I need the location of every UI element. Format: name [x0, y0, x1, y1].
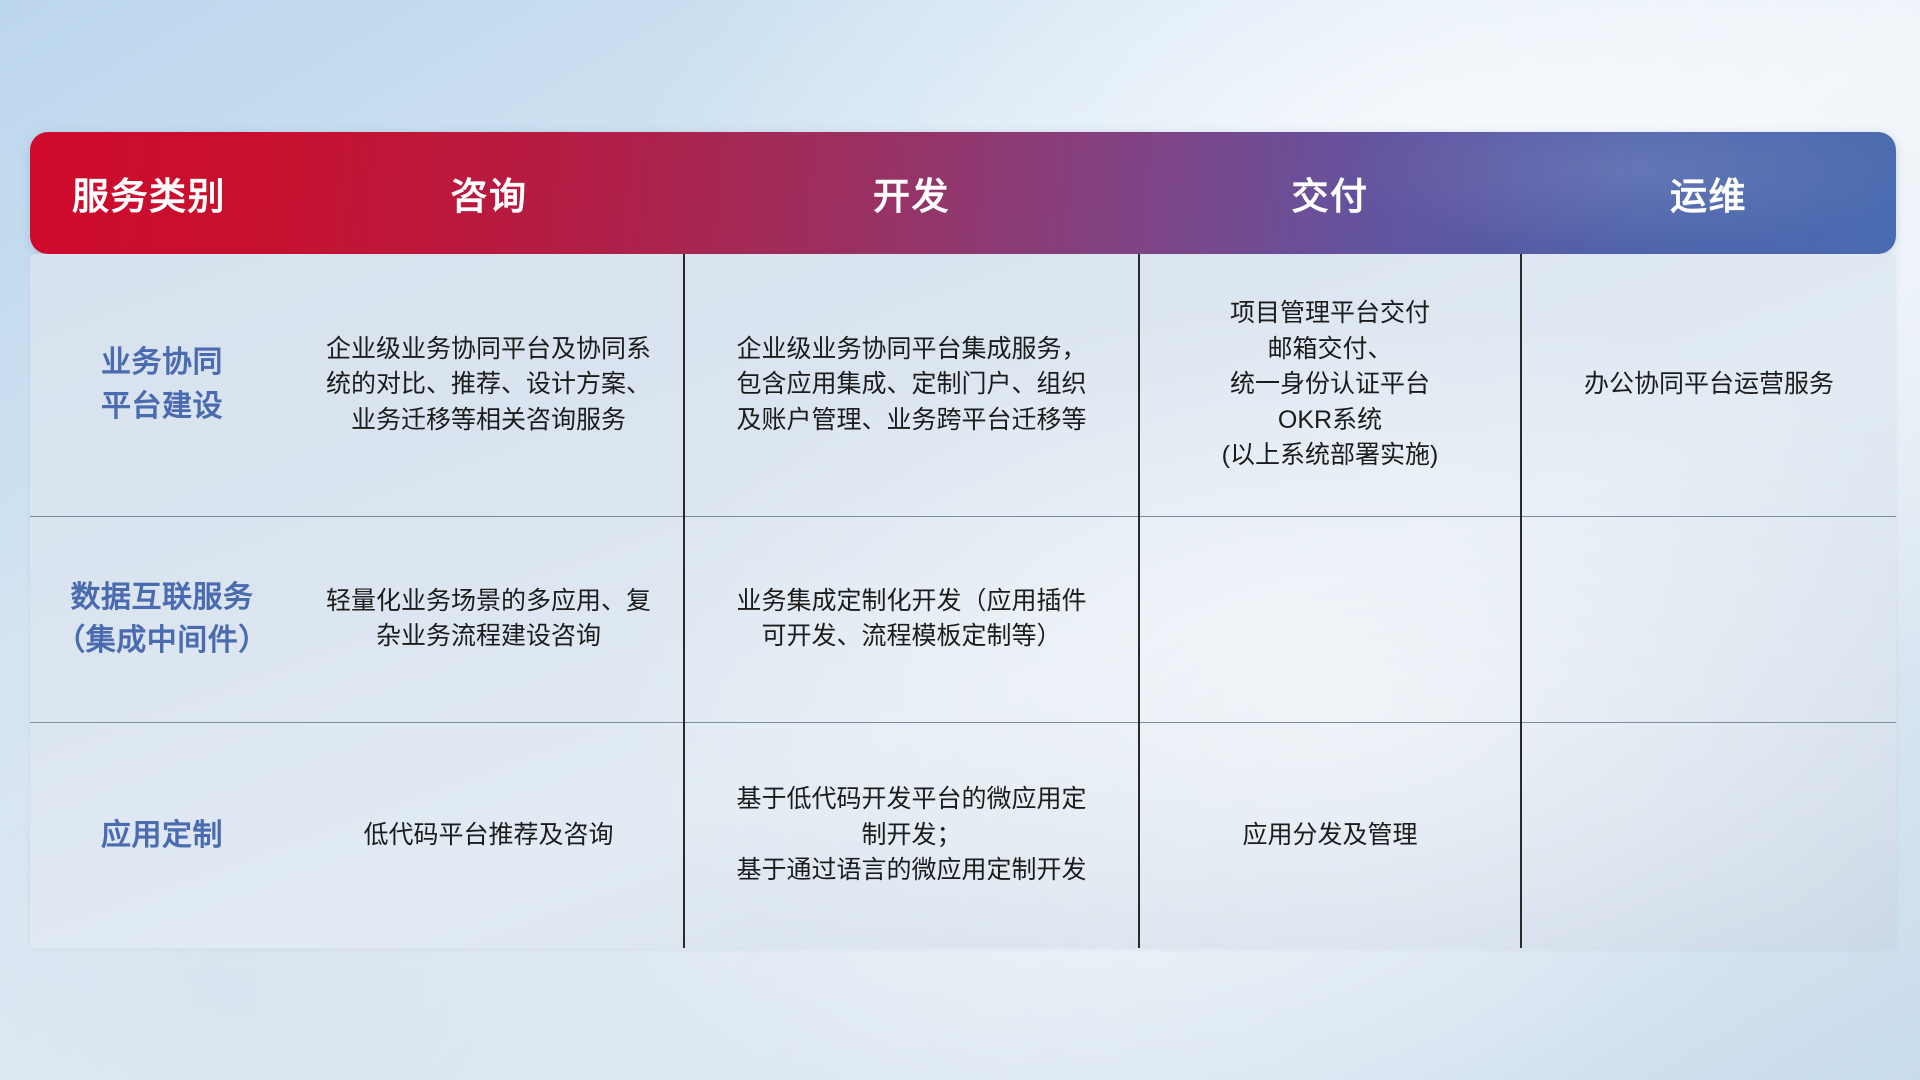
table-row: 应用定制 低代码平台推荐及咨询 基于低代码开发平台的微应用定 制开发； 基于通过… [30, 722, 1896, 948]
row-category-business-collaboration: 业务协同 平台建设 [30, 254, 294, 516]
column-header-consulting[interactable]: 咨询 [294, 132, 684, 254]
cell-operations-r1: 办公协同平台运营服务 [1521, 254, 1896, 516]
service-matrix-container: 服务类别 咨询 开发 交付 运维 [30, 132, 1896, 948]
table-row: 数据互联服务 （集成中间件） 轻量化业务场景的多应用、复 杂业务流程建设咨询 业… [30, 516, 1896, 722]
page-root: 服务类别 咨询 开发 交付 运维 [0, 0, 1920, 1080]
row-category-label: 业务协同 平台建设 [46, 341, 278, 428]
cell-development-r3: 基于低代码开发平台的微应用定 制开发； 基于通过语言的微应用定制开发 [684, 722, 1139, 948]
cell-text: 办公协同平台运营服务 [1538, 367, 1880, 403]
cell-consulting-r2: 轻量化业务场景的多应用、复 杂业务流程建设咨询 [294, 516, 684, 722]
cell-delivery-r2 [1139, 516, 1521, 722]
column-header-category-label: 服务类别 [30, 166, 294, 220]
cell-operations-r2 [1521, 516, 1896, 722]
header-row: 服务类别 咨询 开发 交付 运维 [30, 132, 1896, 254]
cell-text: 应用分发及管理 [1156, 818, 1504, 854]
cell-text: 业务集成定制化开发（应用插件 可开发、流程模板定制等） [701, 584, 1122, 655]
service-matrix-table: 服务类别 咨询 开发 交付 运维 [30, 132, 1896, 948]
cell-text: 项目管理平台交付 邮箱交付、 统一身份认证平台 OKR系统 (以上系统部署实施) [1156, 296, 1504, 474]
row-category-label: 应用定制 [46, 814, 278, 858]
cell-delivery-r1: 项目管理平台交付 邮箱交付、 统一身份认证平台 OKR系统 (以上系统部署实施) [1139, 254, 1521, 516]
table-body: 业务协同 平台建设 企业级业务协同平台及协同系 统的对比、推荐、设计方案、 业务… [30, 254, 1896, 948]
column-header-operations[interactable]: 运维 [1521, 132, 1896, 254]
cell-text: 企业级业务协同平台集成服务， 包含应用集成、定制门户、组织 及账户管理、业务跨平… [701, 332, 1122, 439]
column-header-category[interactable]: 服务类别 [30, 132, 294, 254]
cell-consulting-r1: 企业级业务协同平台及协同系 统的对比、推荐、设计方案、 业务迁移等相关咨询服务 [294, 254, 684, 516]
row-category-label: 数据互联服务 （集成中间件） [46, 576, 278, 663]
column-header-operations-label: 运维 [1521, 166, 1896, 220]
cell-delivery-r3: 应用分发及管理 [1139, 722, 1521, 948]
row-category-application-customization: 应用定制 [30, 722, 294, 948]
cell-text: 低代码平台推荐及咨询 [310, 818, 667, 854]
column-header-delivery[interactable]: 交付 [1139, 132, 1521, 254]
cell-text: 企业级业务协同平台及协同系 统的对比、推荐、设计方案、 业务迁移等相关咨询服务 [310, 332, 667, 439]
column-header-development-label: 开发 [684, 166, 1139, 220]
cell-consulting-r3: 低代码平台推荐及咨询 [294, 722, 684, 948]
table-header: 服务类别 咨询 开发 交付 运维 [30, 132, 1896, 254]
cell-text: 基于低代码开发平台的微应用定 制开发； 基于通过语言的微应用定制开发 [701, 782, 1122, 889]
cell-operations-r3 [1521, 722, 1896, 948]
column-header-consulting-label: 咨询 [294, 166, 684, 220]
row-category-data-integration: 数据互联服务 （集成中间件） [30, 516, 294, 722]
column-header-delivery-label: 交付 [1139, 166, 1521, 220]
column-header-development[interactable]: 开发 [684, 132, 1139, 254]
cell-development-r2: 业务集成定制化开发（应用插件 可开发、流程模板定制等） [684, 516, 1139, 722]
cell-text: 轻量化业务场景的多应用、复 杂业务流程建设咨询 [310, 584, 667, 655]
table-row: 业务协同 平台建设 企业级业务协同平台及协同系 统的对比、推荐、设计方案、 业务… [30, 254, 1896, 516]
cell-development-r1: 企业级业务协同平台集成服务， 包含应用集成、定制门户、组织 及账户管理、业务跨平… [684, 254, 1139, 516]
